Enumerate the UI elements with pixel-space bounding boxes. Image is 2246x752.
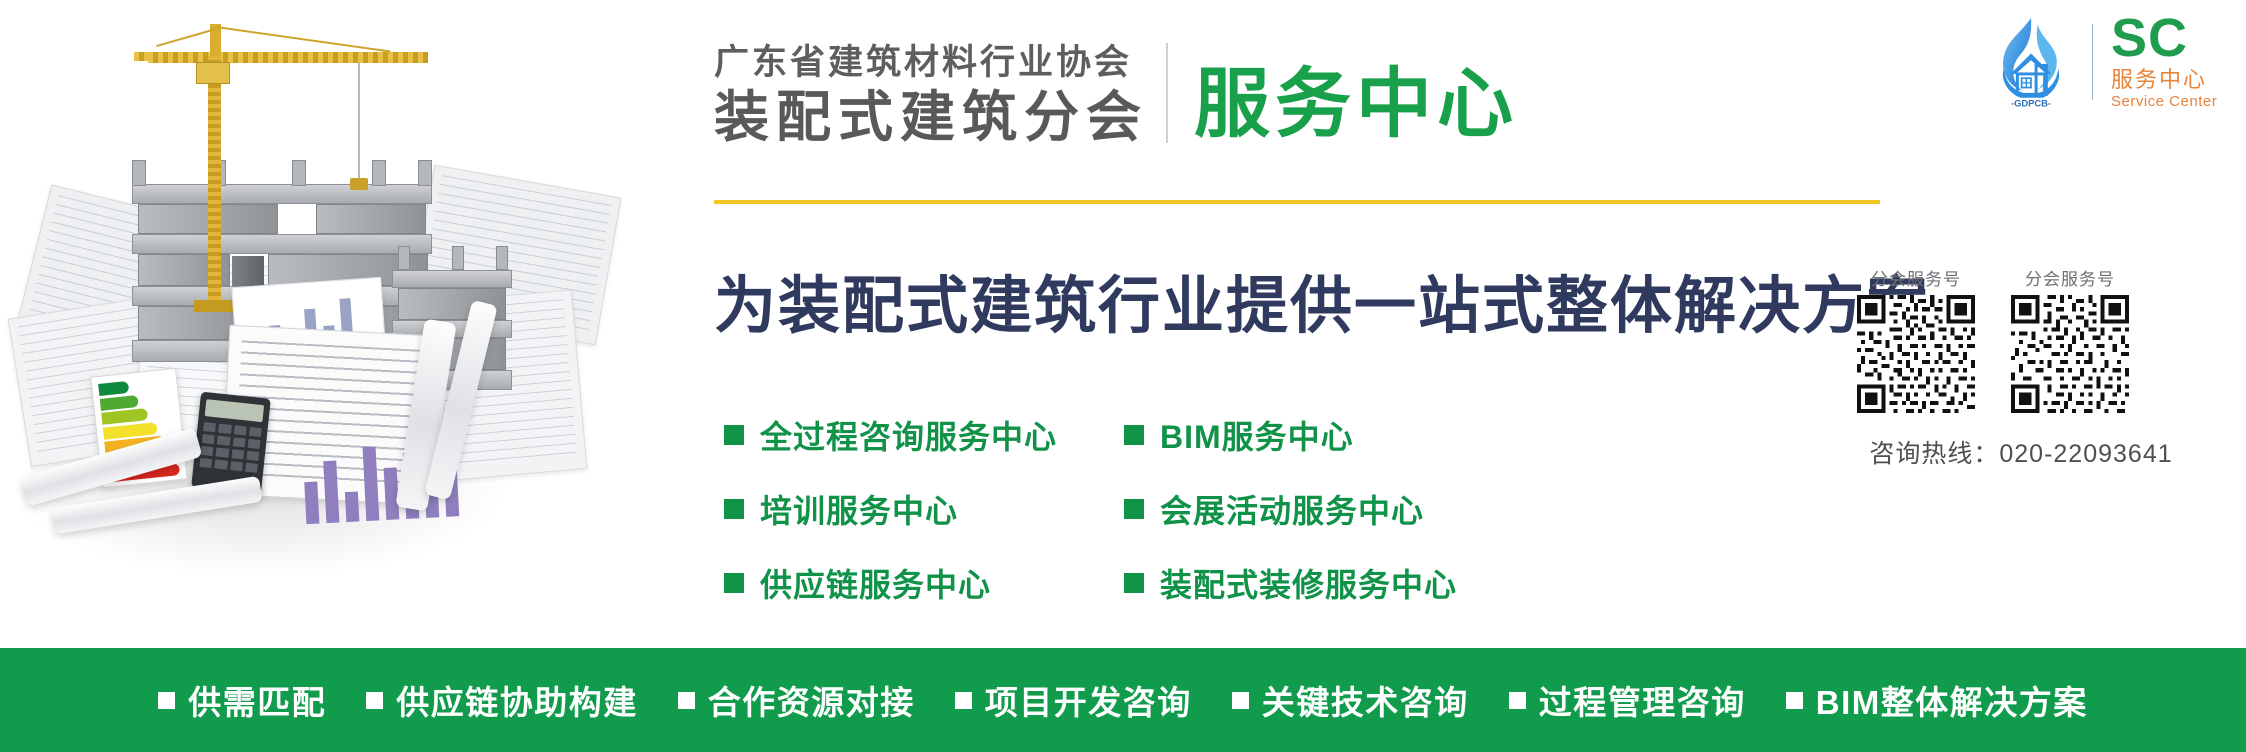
- bullet-square-icon: [1124, 499, 1144, 519]
- bottom-item-key-technology-consulting[interactable]: 关键技术咨询: [1232, 676, 1469, 724]
- gdpcb-flame-house-emblem-icon: -GDPCB-: [1988, 16, 2074, 108]
- hero-illustration: [0, 0, 660, 648]
- title-vertical-divider: [1166, 43, 1168, 143]
- bottom-item-label: 供需匹配: [188, 676, 326, 724]
- bullet-square-icon: [724, 425, 744, 445]
- bottom-item-label: 供应链协助构建: [396, 676, 638, 724]
- bullet-square-icon: [955, 692, 972, 709]
- logo-sc-chinese: 服务中心: [2111, 66, 2207, 94]
- bullet-square-icon: [724, 573, 744, 593]
- logo-text-block: SC 服务中心 Service Center: [2111, 14, 2217, 110]
- service-center-lists: 全过程咨询服务中心 培训服务中心 供应链服务中心 BIM服务中心 会展活动服务中…: [724, 412, 1457, 606]
- service-item-supply-chain[interactable]: 供应链服务中心: [724, 560, 1124, 606]
- qr-code-icon[interactable]: [1857, 295, 1975, 413]
- banner-title-block: 广东省建筑材料行业协会 装配式建筑分会 服务中心: [714, 42, 1518, 147]
- qr-cell: 分会服务号: [2010, 265, 2130, 418]
- bullet-square-icon: [724, 499, 744, 519]
- bottom-item-project-development-consulting[interactable]: 项目开发咨询: [955, 676, 1192, 724]
- association-parent-name: 广东省建筑材料行业协会: [714, 42, 1148, 85]
- service-item-exhibition-events[interactable]: 会展活动服务中心: [1124, 486, 1457, 532]
- bottom-item-supply-chain-build[interactable]: 供应链协助构建: [366, 676, 638, 724]
- qr-code-icon[interactable]: [2011, 295, 2129, 413]
- bottom-item-label: 关键技术咨询: [1262, 676, 1469, 724]
- hotline-text: 咨询热线：020-22093641: [1856, 434, 2186, 470]
- qr-caption: 分会服务号: [1856, 265, 1976, 290]
- logo-mark-caption: -GDPCB-: [2011, 98, 2051, 108]
- association-branch-name: 装配式建筑分会: [714, 87, 1148, 148]
- bottom-item-partner-resource-match[interactable]: 合作资源对接: [678, 676, 915, 724]
- bottom-service-bar: 供需匹配 供应链协助构建 合作资源对接 项目开发咨询 关键技术咨询 过程管理咨询: [0, 648, 2246, 752]
- qr-row: 分会服务号: [1856, 265, 2186, 418]
- association-name: 广东省建筑材料行业协会 装配式建筑分会: [714, 42, 1148, 147]
- logo-sc-initials: SC: [2111, 14, 2188, 64]
- qr-cell: 分会服务号: [1856, 265, 1976, 418]
- bottom-item-label: 过程管理咨询: [1539, 676, 1746, 724]
- service-item-label: BIM服务中心: [1160, 412, 1354, 458]
- gdpcb-sc-logo[interactable]: -GDPCB- SC 服务中心 Service Center: [1988, 14, 2217, 110]
- gold-divider-rule: [714, 200, 1880, 204]
- bullet-square-icon: [366, 692, 383, 709]
- tower-crane: [120, 12, 450, 312]
- service-item-bim[interactable]: BIM服务中心: [1124, 412, 1457, 458]
- service-center-heading: 服务中心: [1194, 67, 1518, 147]
- qr-contact-block: 分会服务号: [1856, 265, 2186, 470]
- service-item-label: 会展活动服务中心: [1160, 486, 1424, 532]
- bottom-item-supply-demand-matching[interactable]: 供需匹配: [158, 676, 326, 724]
- bottom-item-bim-total-solution[interactable]: BIM整体解决方案: [1786, 676, 2088, 724]
- service-item-label: 全过程咨询服务中心: [760, 412, 1057, 458]
- service-item-training[interactable]: 培训服务中心: [724, 486, 1124, 532]
- bullet-square-icon: [678, 692, 695, 709]
- bottom-item-label: BIM整体解决方案: [1816, 676, 2088, 724]
- service-item-label: 供应链服务中心: [760, 560, 991, 606]
- bottom-item-process-management-consulting[interactable]: 过程管理咨询: [1509, 676, 1746, 724]
- bullet-square-icon: [1124, 425, 1144, 445]
- service-list-right: BIM服务中心 会展活动服务中心 装配式装修服务中心: [1124, 412, 1457, 606]
- bullet-square-icon: [1124, 573, 1144, 593]
- service-center-banner: 广东省建筑材料行业协会 装配式建筑分会 服务中心 为装配式建筑行业提供一站式整体…: [0, 0, 2246, 752]
- logo-divider: [2092, 24, 2093, 100]
- bottom-item-label: 合作资源对接: [708, 676, 915, 724]
- bullet-square-icon: [158, 692, 175, 709]
- bullet-square-icon: [1509, 692, 1526, 709]
- bottom-item-label: 项目开发咨询: [985, 676, 1192, 724]
- banner-tagline: 为装配式建筑行业提供一站式整体解决方案: [714, 255, 1930, 345]
- logo-sc-english: Service Center: [2111, 93, 2217, 110]
- qr-caption: 分会服务号: [2010, 265, 2130, 290]
- service-list-left: 全过程咨询服务中心 培训服务中心 供应链服务中心: [724, 412, 1124, 606]
- bullet-square-icon: [1786, 692, 1803, 709]
- service-item-label: 装配式装修服务中心: [1160, 560, 1457, 606]
- bullet-square-icon: [1232, 692, 1249, 709]
- service-item-label: 培训服务中心: [760, 486, 958, 532]
- service-item-full-process-consulting[interactable]: 全过程咨询服务中心: [724, 412, 1124, 458]
- service-item-prefab-decoration[interactable]: 装配式装修服务中心: [1124, 560, 1457, 606]
